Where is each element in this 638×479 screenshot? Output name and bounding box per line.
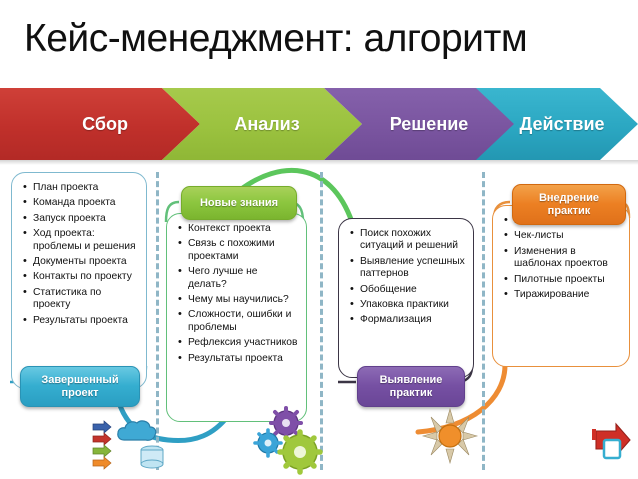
- chevron-label-sbor: Сбор: [72, 114, 128, 135]
- blue-arrow-icon: [93, 421, 111, 433]
- list-item: Обобщение: [350, 284, 465, 296]
- green-gear-icon: [280, 432, 320, 472]
- list-item: Связь с похожими проектами: [178, 238, 298, 263]
- badge-novye-znaniya[interactable]: Новые знания: [181, 186, 297, 220]
- list-item: Чего лучше не делать?: [178, 266, 298, 291]
- list-item: Документы проекта: [23, 256, 138, 268]
- list-item: Чек-листы: [504, 230, 621, 242]
- list-item: Запуск проекта: [23, 213, 138, 225]
- bullet-list-reshenie: Поиск похожих ситуаций и решений Выявлен…: [339, 219, 473, 336]
- list-item: Выявление успешных паттернов: [350, 256, 465, 281]
- column-box-sbor: План проекта Команда проекта Запуск прое…: [11, 172, 147, 389]
- column-box-deystvie: База лучших практик Чек-листы Изменения …: [492, 205, 630, 367]
- sun-icon: [423, 409, 477, 463]
- red-arrow-icon: [93, 433, 111, 445]
- list-item: План проекта: [23, 182, 138, 194]
- badge-label: Новые знания: [200, 197, 278, 210]
- column-separator-1: [156, 172, 159, 470]
- list-item: Упаковка практики: [350, 299, 465, 311]
- column-separator-2: [320, 172, 323, 470]
- column-box-reshenie: Поиск похожих ситуаций и решений Выявлен…: [338, 218, 474, 378]
- list-item: Статистика по проекту: [23, 287, 138, 312]
- process-chevron-band: Сбор Анализ Решение Действие: [0, 88, 638, 160]
- list-item: Контакты по проекту: [23, 271, 138, 283]
- list-item: Поиск похожих ситуаций и решений: [350, 228, 465, 253]
- list-item: Формализация: [350, 314, 465, 326]
- bullet-list-sbor: План проекта Команда проекта Запуск прое…: [12, 173, 146, 336]
- badge-label: Внедрение практик: [517, 192, 621, 218]
- list-item: Контекст проекта: [178, 223, 298, 235]
- chevron-label-deystvie: Действие: [509, 114, 604, 135]
- list-item: Пилотные проекты: [504, 274, 621, 286]
- badge-vnedrenie-praktik[interactable]: Внедрение практик: [512, 184, 626, 225]
- list-item: Результаты проекта: [23, 315, 138, 327]
- orange-arrow-icon: [93, 457, 111, 469]
- chevron-label-analiz: Анализ: [224, 114, 299, 135]
- blue-gear-icon: [255, 430, 281, 456]
- slide-canvas: Кейс-менеджмент: алгоритм Сбор Анализ Ре…: [0, 0, 638, 479]
- badge-label: Завершенный проект: [25, 374, 135, 400]
- red-arrow-right-icon: [592, 424, 630, 458]
- list-item: Сложности, ошибки и проблемы: [178, 309, 298, 334]
- list-item: Изменения в шаблонах проектов: [504, 246, 621, 271]
- badge-vyyavlenie-praktik[interactable]: Выявление практик: [357, 366, 465, 407]
- list-item: Чему мы научились?: [178, 294, 298, 306]
- list-item: Рефлексия участников: [178, 337, 298, 349]
- band-drop-shadow: [0, 160, 638, 165]
- list-item: Тиражирование: [504, 289, 621, 301]
- list-item: Ход проекта: проблемы и решения: [23, 228, 138, 253]
- badge-label: Выявление практик: [362, 374, 460, 400]
- list-item: Результаты проекта: [178, 353, 298, 365]
- badge-zavershennyy-proekt[interactable]: Завершенный проект: [20, 366, 140, 407]
- chevron-step-sbor[interactable]: Сбор: [0, 88, 200, 160]
- list-item: Команда проекта: [23, 197, 138, 209]
- column-box-analiz: Контекст проекта Связь с похожими проект…: [166, 213, 307, 422]
- green-arrow-icon: [93, 445, 111, 457]
- chevron-label-reshenie: Решение: [380, 114, 469, 135]
- bullet-list-analiz: Контекст проекта Связь с похожими проект…: [167, 214, 306, 374]
- column-separator-3: [482, 172, 485, 470]
- page-title: Кейс-менеджмент: алгоритм: [24, 10, 624, 72]
